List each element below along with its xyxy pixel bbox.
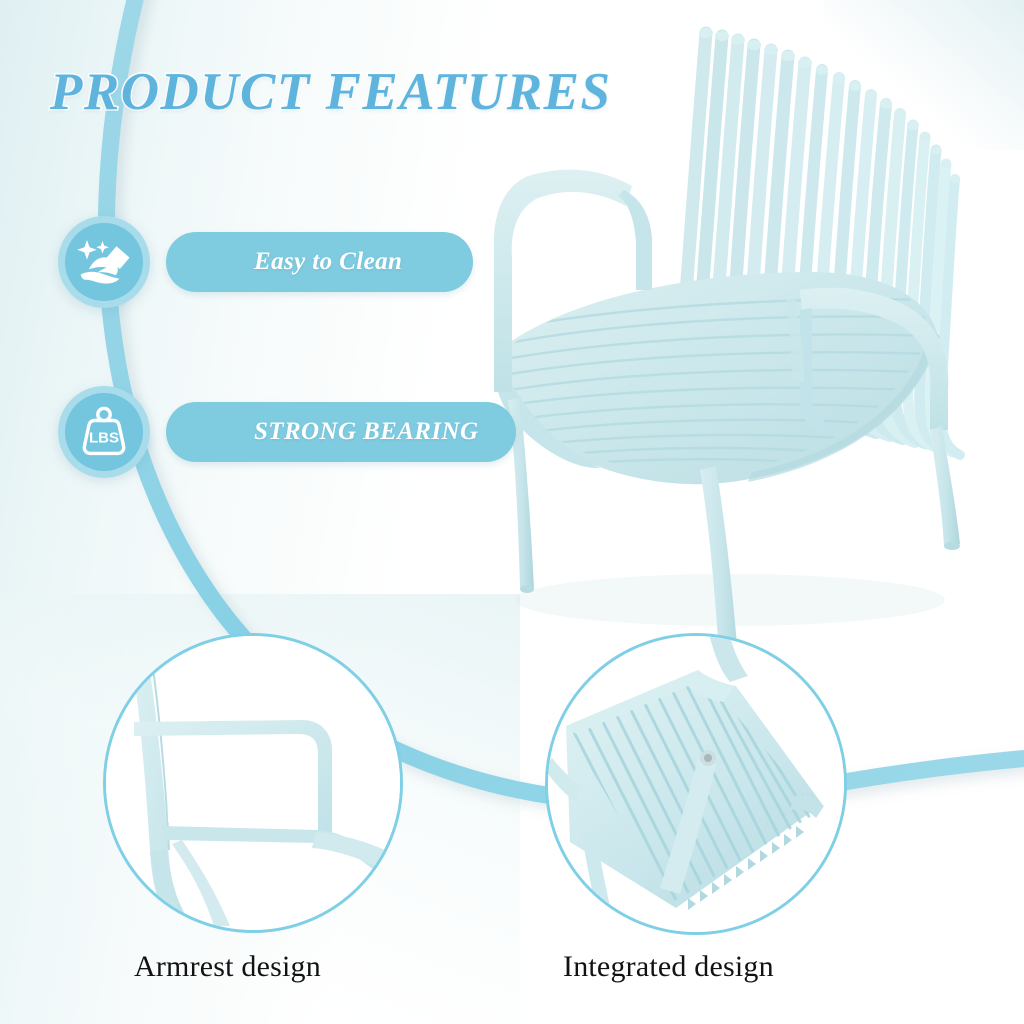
page-title: PRODUCT FEATURES (50, 62, 611, 122)
detail-caption-armrest: Armrest design (134, 950, 321, 984)
chair-seat-underside-closeup (548, 636, 844, 932)
chair-armrest-closeup (106, 636, 400, 930)
detail-caption-integrated: Integrated design (563, 950, 774, 984)
cleaning-cloth-sparkle-icon (58, 216, 150, 308)
detail-circle-armrest (103, 633, 403, 933)
infographic-canvas: PRODUCT FEATURES Easy to Clean STRONG BE… (0, 0, 1024, 1024)
feature-label: STRONG BEARING (254, 418, 478, 446)
feature-label: Easy to Clean (254, 248, 402, 276)
feature-pill: STRONG BEARING (166, 402, 516, 462)
weight-lbs-icon: LBS (58, 386, 150, 478)
detail-circle-integrated (545, 633, 847, 935)
feature-pill: Easy to Clean (166, 232, 473, 292)
weight-icon-text: LBS (89, 430, 119, 447)
